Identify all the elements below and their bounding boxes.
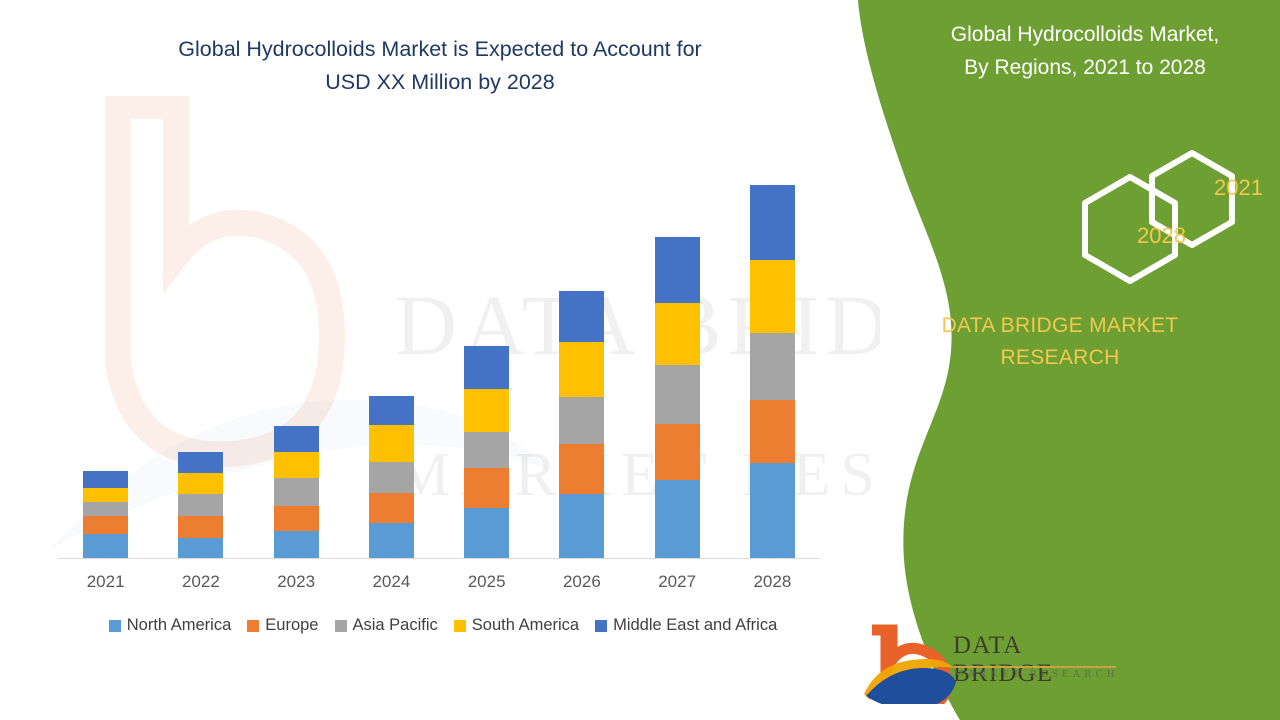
- logo-tagline: MARKET RESEARCH: [954, 669, 1119, 680]
- chart-legend: North AmericaEuropeAsia PacificSouth Ame…: [48, 616, 838, 635]
- bar-group: [534, 291, 629, 558]
- bar-segment[interactable]: [464, 389, 509, 432]
- stacked-bar-2027[interactable]: [655, 237, 700, 558]
- bar-group: [439, 346, 534, 558]
- chart-title: Global Hydrocolloids Market is Expected …: [60, 33, 820, 99]
- bar-segment[interactable]: [655, 303, 700, 365]
- stacked-bar-2024[interactable]: [369, 396, 414, 558]
- bar-segment[interactable]: [369, 396, 414, 425]
- bar-segment[interactable]: [559, 342, 604, 397]
- bar-segment[interactable]: [464, 432, 509, 468]
- bar-segment[interactable]: [83, 488, 128, 502]
- legend-item[interactable]: Europe: [247, 616, 318, 635]
- bar-segment[interactable]: [750, 333, 795, 400]
- stacked-bar-2026[interactable]: [559, 291, 604, 558]
- brand-panel-title-line-2: By Regions, 2021 to 2028: [900, 51, 1270, 84]
- company-logo: DATA BRIDGE MARKET RESEARCH: [858, 622, 1128, 704]
- hexagon-badges: 2021 2028: [970, 145, 1270, 295]
- bar-segment[interactable]: [559, 291, 604, 342]
- bar-segment[interactable]: [274, 531, 319, 558]
- logo-divider: [954, 666, 1116, 668]
- bar-segment[interactable]: [83, 516, 128, 534]
- brand-panel: Global Hydrocolloids Market, By Regions,…: [840, 0, 1280, 720]
- bar-segment[interactable]: [655, 424, 700, 480]
- bar-segment[interactable]: [178, 516, 223, 538]
- stacked-bar-2021[interactable]: [83, 471, 128, 558]
- chart-title-line-1: Global Hydrocolloids Market is Expected …: [60, 33, 820, 66]
- chart-panel: DATA BRIDGE MARKET RESEARCH Global Hydro…: [0, 0, 880, 720]
- x-axis-tick-label: 2022: [153, 572, 248, 592]
- legend-item[interactable]: South America: [454, 616, 579, 635]
- x-axis-tick-label: 2027: [630, 572, 725, 592]
- bar-segment[interactable]: [655, 480, 700, 558]
- stacked-bar-2025[interactable]: [464, 346, 509, 558]
- bar-segment[interactable]: [178, 494, 223, 516]
- x-axis-labels: 20212022202320242025202620272028: [58, 572, 820, 592]
- brand-panel-title-line-1: Global Hydrocolloids Market,: [900, 18, 1270, 51]
- legend-swatch-icon: [109, 620, 121, 632]
- bar-segment[interactable]: [464, 346, 509, 389]
- bar-segment[interactable]: [274, 478, 319, 506]
- legend-swatch-icon: [454, 620, 466, 632]
- brand-name-line-2: RESEARCH: [870, 342, 1250, 374]
- data-bridge-b-mark-icon: [858, 622, 958, 704]
- hexagon-outlines-icon: [970, 145, 1270, 295]
- bar-group: [725, 185, 820, 558]
- bar-segment[interactable]: [369, 462, 414, 493]
- bar-segment[interactable]: [83, 502, 128, 516]
- bar-group: [58, 471, 153, 558]
- x-axis-tick-label: 2026: [534, 572, 629, 592]
- legend-swatch-icon: [247, 620, 259, 632]
- bar-series-container: [58, 170, 820, 558]
- stacked-bar-2028[interactable]: [750, 185, 795, 558]
- bar-segment[interactable]: [274, 452, 319, 478]
- bar-segment[interactable]: [559, 444, 604, 494]
- bar-segment[interactable]: [83, 534, 128, 558]
- bar-segment[interactable]: [559, 494, 604, 558]
- chart-title-line-2: USD XX Million by 2028: [60, 66, 820, 99]
- bar-segment[interactable]: [369, 425, 414, 462]
- bar-group: [153, 452, 248, 558]
- bar-segment[interactable]: [274, 506, 319, 531]
- infographic-page: DATA BRIDGE MARKET RESEARCH Global Hydro…: [0, 0, 1280, 720]
- bar-segment[interactable]: [274, 426, 319, 452]
- bar-segment[interactable]: [559, 397, 604, 444]
- legend-label: South America: [472, 616, 579, 635]
- bar-segment[interactable]: [369, 523, 414, 558]
- x-axis-tick-label: 2028: [725, 572, 820, 592]
- bar-segment[interactable]: [655, 237, 700, 303]
- legend-label: North America: [127, 616, 232, 635]
- x-axis-tick-label: 2023: [249, 572, 344, 592]
- x-axis-tick-label: 2025: [439, 572, 534, 592]
- bar-segment[interactable]: [178, 538, 223, 558]
- bar-group: [630, 237, 725, 558]
- legend-item[interactable]: Asia Pacific: [335, 616, 438, 635]
- legend-item[interactable]: Middle East and Africa: [595, 616, 777, 635]
- bar-segment[interactable]: [178, 473, 223, 494]
- legend-item[interactable]: North America: [109, 616, 232, 635]
- legend-label: Europe: [265, 616, 318, 635]
- bar-segment[interactable]: [83, 471, 128, 488]
- hex-label-2021: 2021: [1214, 175, 1263, 201]
- bar-segment[interactable]: [178, 452, 223, 473]
- bar-segment[interactable]: [750, 400, 795, 463]
- stacked-bar-2022[interactable]: [178, 452, 223, 558]
- bar-segment[interactable]: [655, 365, 700, 424]
- stacked-bar-2023[interactable]: [274, 426, 319, 558]
- bar-segment[interactable]: [464, 468, 509, 508]
- hex-label-2028: 2028: [1137, 223, 1186, 249]
- legend-swatch-icon: [595, 620, 607, 632]
- chart-plot-area: [58, 170, 820, 559]
- bar-group: [344, 396, 439, 558]
- bar-segment[interactable]: [750, 185, 795, 260]
- x-axis-line: [58, 558, 820, 559]
- legend-label: Middle East and Africa: [613, 616, 777, 635]
- bar-segment[interactable]: [750, 463, 795, 558]
- legend-label: Asia Pacific: [353, 616, 438, 635]
- brand-name: DATA BRIDGE MARKET RESEARCH: [870, 310, 1250, 374]
- bar-segment[interactable]: [750, 260, 795, 333]
- x-axis-tick-label: 2021: [58, 572, 153, 592]
- brand-panel-title: Global Hydrocolloids Market, By Regions,…: [900, 18, 1270, 84]
- bar-segment[interactable]: [464, 508, 509, 558]
- bar-segment[interactable]: [369, 493, 414, 523]
- legend-swatch-icon: [335, 620, 347, 632]
- x-axis-tick-label: 2024: [344, 572, 439, 592]
- brand-name-line-1: DATA BRIDGE MARKET: [870, 310, 1250, 342]
- bar-group: [249, 426, 344, 558]
